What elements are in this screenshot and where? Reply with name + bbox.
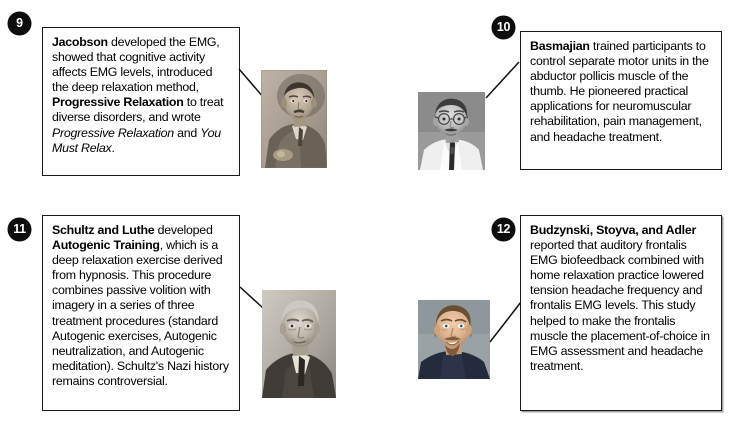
portrait-jacobson xyxy=(261,70,327,168)
figure-canvas: 9 Jacobson developed the EMG, showed tha… xyxy=(0,0,750,422)
panel-textbox-10: Basmajian trained participants to contro… xyxy=(520,31,722,170)
panel-badge-11: 11 xyxy=(8,218,31,241)
panel-body-12: reported that auditory frontalis EMG bio… xyxy=(530,223,713,373)
panel-body-9c: and xyxy=(174,126,200,140)
portrait-schultz xyxy=(262,290,336,398)
panel-text-12: Budzynski, Stoyva, and Adler reported th… xyxy=(530,223,712,374)
panel-body-9d: . xyxy=(111,141,114,155)
panel-badge-12: 12 xyxy=(492,218,515,241)
panel-body-11a: developed xyxy=(154,223,215,237)
panel-lead2-9: Progressive Relaxation xyxy=(52,95,184,109)
panel-textbox-9: Jacobson developed the EMG, showed that … xyxy=(42,27,240,176)
panel-lead2-11: Autogenic Training xyxy=(52,238,160,252)
panel-lead-12: Budzynski, Stoyva, and Adler xyxy=(530,223,696,237)
panel-booktitle-9a: Progressive Relaxation xyxy=(52,126,174,140)
panel-body-11b: , which is a deep relaxation exercise de… xyxy=(52,238,232,388)
panel-textbox-12: Budzynski, Stoyva, and Adler reported th… xyxy=(520,215,722,411)
portrait-budzynski xyxy=(418,300,490,379)
panel-lead-11: Schultz and Luthe xyxy=(52,223,154,237)
panel-textbox-11: Schultz and Luthe developed Autogenic Tr… xyxy=(42,215,240,411)
portrait-basmajian xyxy=(418,92,485,170)
panel-connector-12 xyxy=(489,300,523,344)
panel-lead-10: Basmajian xyxy=(530,39,590,53)
panel-text-10: Basmajian trained participants to contro… xyxy=(530,39,712,145)
panel-text-9: Jacobson developed the EMG, showed that … xyxy=(52,35,230,156)
panel-badge-10: 10 xyxy=(492,16,515,39)
panel-body-10: trained participants to control separate… xyxy=(530,39,712,144)
panel-lead-9: Jacobson xyxy=(52,35,108,49)
panel-text-11: Schultz and Luthe developed Autogenic Tr… xyxy=(52,223,230,389)
panel-connector-10 xyxy=(485,60,521,100)
panel-badge-9: 9 xyxy=(8,12,31,35)
